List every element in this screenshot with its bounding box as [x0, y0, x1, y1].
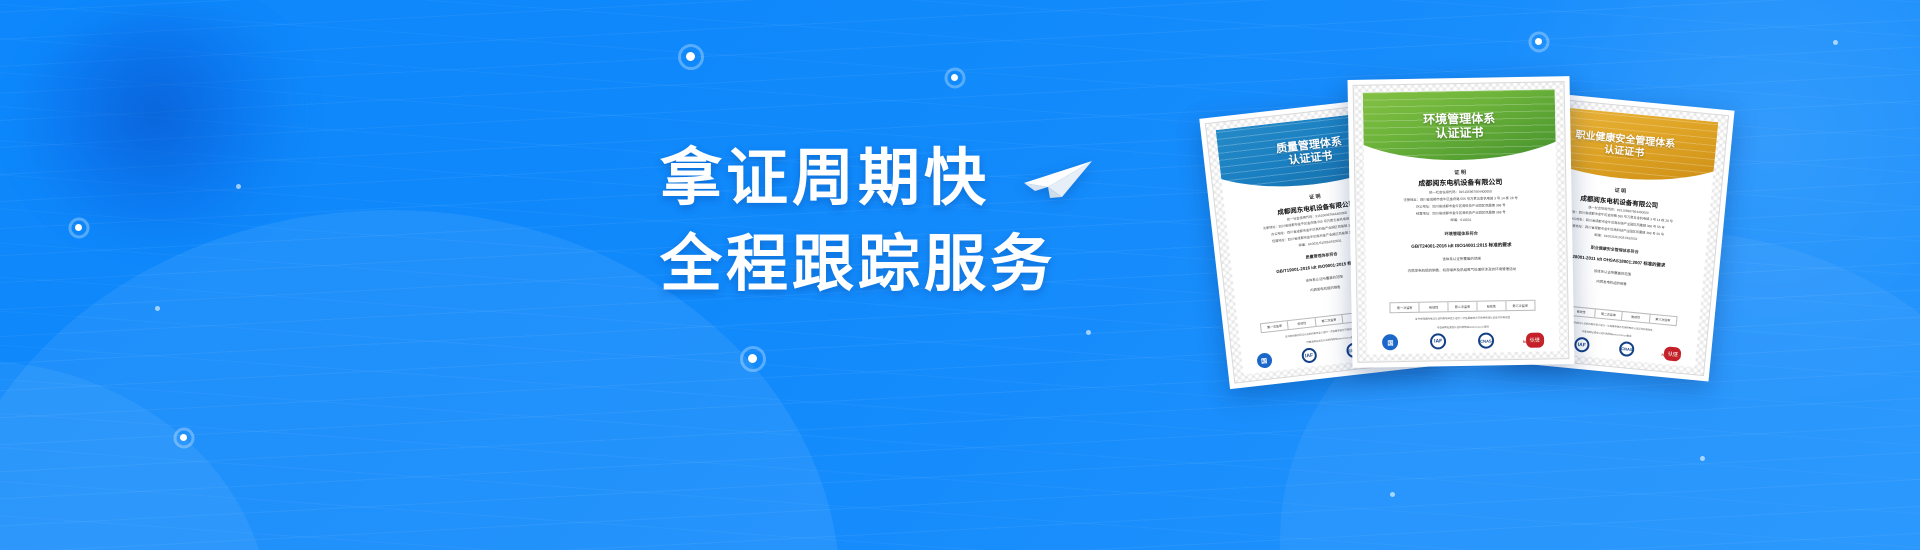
decorative-dot	[75, 224, 82, 231]
audit-cell: 有效性	[1477, 301, 1506, 311]
paper-plane-icon	[1022, 157, 1094, 206]
decorative-dot	[686, 52, 695, 61]
certificate-scope-label: 该体系认证所覆盖的范围	[1442, 257, 1481, 263]
certificate-footer-2: 可查询网址或在认证机构网站www.cnca.cn查询	[1388, 324, 1537, 330]
certificate-header-banner: 环境管理体系 认证证书	[1363, 89, 1556, 163]
decorative-dot	[155, 306, 160, 311]
certificate-standard: GB/T28001-2011 idt OHSAS18001:2007 标准的要求	[1562, 253, 1666, 269]
audit-cell: 第二次监审	[1448, 302, 1477, 312]
certificate-address-1: 注册地址：四川省成都市金牛区金府路 555 号万贯五金机电城 3 号 14 栋 …	[1403, 196, 1517, 203]
certificate-section-label: 证 明	[1309, 192, 1321, 200]
decorative-dot	[1700, 456, 1705, 461]
promo-banner: 拿证周期快 全程跟踪服务 质	[0, 0, 1920, 550]
certificate-zip: 邮编：610031	[1450, 218, 1471, 223]
iaf-seal-icon: IAF	[1301, 348, 1318, 365]
certificate-section-label: 证 明	[1614, 186, 1626, 194]
certificate-section-label: 证 明	[1454, 169, 1466, 176]
certificate-committee: 质量管理体系符合	[1305, 251, 1337, 261]
audit-cell: 第一次监审	[1391, 303, 1420, 313]
cn-seal-icon: 国	[1256, 353, 1273, 370]
certificate-social-code: 统一社会信用代码：915106967664400000	[1429, 190, 1492, 196]
certificate-committee: 职业健康安全管理体系符合	[1591, 244, 1639, 255]
audit-cell: 第二次监审	[1595, 309, 1623, 320]
certificate-scope: 内燃发电机组的销售、机房噪声及机组尾气处理所涉及的环境管理活动	[1408, 267, 1517, 274]
decorative-dot	[236, 184, 241, 189]
headline-line-2: 全程跟踪服务	[660, 222, 1094, 308]
certificate-scope-label: 该体系认证所覆盖的范围	[1305, 274, 1343, 283]
certificate-company: 成都阅东电机设备有限公司	[1418, 178, 1502, 189]
certificate-face: 环境管理体系 认证证书 证 明 成都阅东电机设备有限公司 统一社会信用代码：91…	[1363, 89, 1560, 354]
cn-seal-icon: 国	[1382, 334, 1398, 350]
audit-cell: 第三次监审	[1506, 301, 1534, 310]
decorative-dot	[1833, 40, 1838, 45]
certificate-title: 环境管理体系 认证证书	[1423, 112, 1495, 142]
certificate-title-line-1: 环境管理体系	[1423, 112, 1495, 127]
headline-row-1: 拿证周期快	[660, 136, 1094, 222]
headline-line-1: 拿证周期快	[660, 136, 990, 222]
certificate-audit-grid: 第一次监审 有效性 第二次监审 有效性 第三次监审	[1390, 300, 1535, 314]
audit-cell: 第三次监审	[1649, 314, 1676, 324]
certificate-footer-1: 证书有效期内经过认证机构每年至少进行一次监督审核方可保持有效认证证书的有效性	[1388, 316, 1537, 322]
certificate-address-3: 经营地址：四川省成都市金牛区高科技产业园区凤凰镇 368 号	[1416, 210, 1506, 217]
decorative-dot	[748, 354, 757, 363]
decorative-dot	[1390, 492, 1395, 497]
audit-cell: 第二次监审	[1315, 314, 1343, 325]
decorative-dot	[951, 74, 958, 81]
certificate-scope-label: 该体系认证所覆盖的范围	[1594, 269, 1632, 278]
certificate-title-line-2: 认证证书	[1423, 126, 1495, 141]
certificate-committee: 环境管理体系符合	[1444, 231, 1478, 238]
certificate-body: 证 明 成都阅东电机设备有限公司 统一社会信用代码：91510696766440…	[1364, 160, 1559, 335]
cnas-seal-icon: CNAS	[1478, 333, 1494, 349]
iaf-seal-icon: IAF	[1574, 337, 1590, 353]
certificate-scope: 内燃发电机组的销售	[1310, 285, 1341, 294]
decorative-dot	[1086, 330, 1091, 335]
certificate-number: No.0000001	[1523, 340, 1544, 344]
audit-cell: 有效性	[1288, 318, 1316, 329]
certificate-standard: GB/T24001-2016 idt ISO14001:2015 标准的要求	[1411, 242, 1511, 250]
decorative-dot	[180, 434, 187, 441]
decorative-dot	[1535, 38, 1542, 45]
dark-blue-glow-blob	[20, 10, 320, 240]
certificate-group: 质量管理体系 认证证书 证 明 成都阅东电机设备有限公司 统一社会信用代码：91…	[1214, 78, 1834, 398]
certificate-address-2: 办公地址：四川省成都市金牛区高科技产业园区凤凰镇 368 号	[1416, 204, 1506, 211]
certificate-card-environment[interactable]: 环境管理体系 认证证书 证 明 成都阅东电机设备有限公司 统一社会信用代码：91…	[1348, 76, 1575, 368]
iaf-seal-icon: IAF	[1430, 333, 1446, 349]
audit-cell: 有效性	[1420, 302, 1449, 312]
certificate-scope: 内燃发电机组的销售	[1596, 279, 1627, 287]
headline-block: 拿证周期快 全程跟踪服务	[660, 136, 1094, 307]
audit-cell: 有效性	[1622, 312, 1650, 323]
cnas-seal-icon: CNAS	[1619, 341, 1635, 357]
audit-cell: 第一次监审	[1261, 321, 1289, 332]
certificate-border: 环境管理体系 认证证书 证 明 成都阅东电机设备有限公司 统一社会信用代码：91…	[1353, 81, 1570, 363]
